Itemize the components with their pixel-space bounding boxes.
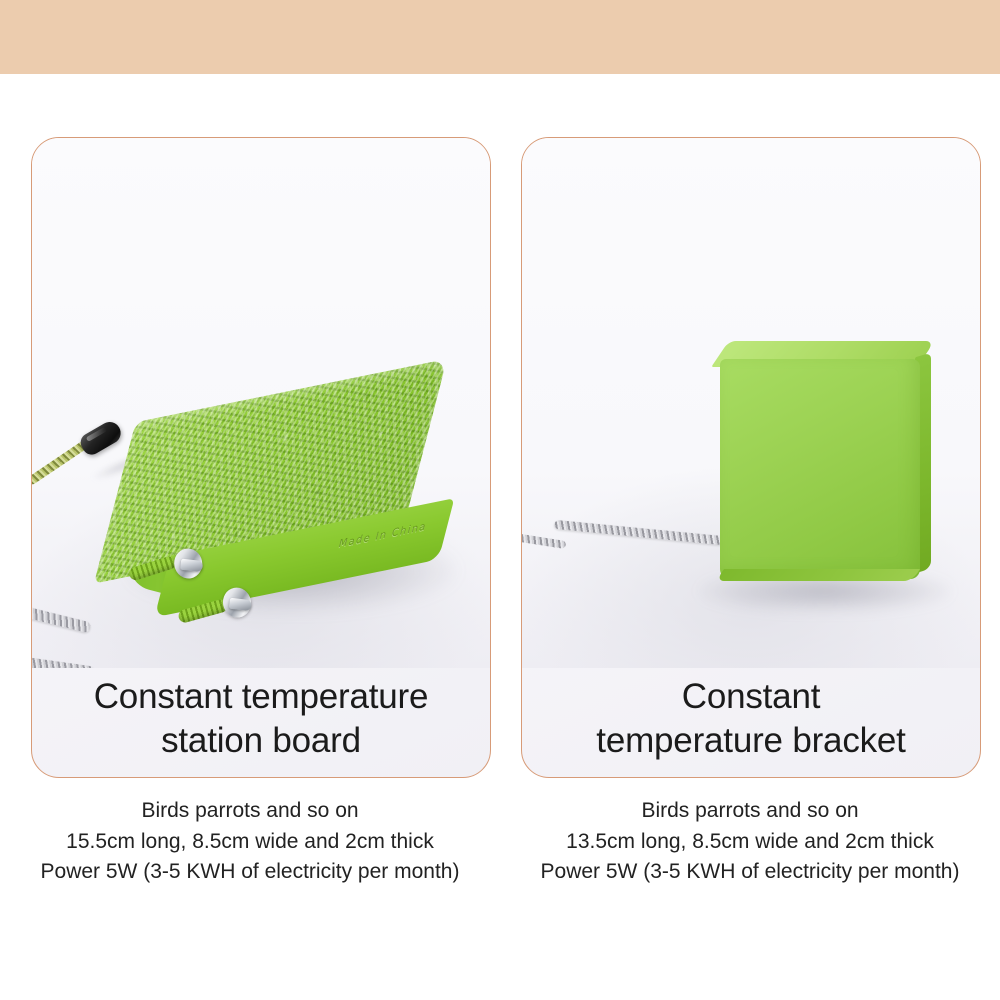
terminal-wing-icon (180, 559, 203, 572)
product-title-line-1: Constant temperature (46, 675, 476, 719)
bracket-illustration (522, 138, 980, 668)
product-title-station-board: Constant temperature station board (32, 675, 490, 763)
product-title-line-2: temperature bracket (536, 719, 966, 763)
braided-cable (554, 520, 724, 545)
product-card-bracket[interactable]: Constant temperature bracket (521, 137, 981, 778)
bracket-front-face (720, 359, 920, 579)
spec-line-usage: Birds parrots and so on (0, 796, 500, 827)
product-specs-bracket: Birds parrots and so on 13.5cm long, 8.5… (500, 796, 1000, 888)
product-comparison-page: Made In China (0, 74, 1000, 1000)
product-specs-station-board: Birds parrots and so on 15.5cm long, 8.5… (0, 796, 500, 888)
product-card-station-board[interactable]: Made In China (31, 137, 491, 778)
terminal-wing-icon (229, 598, 252, 611)
product-photo-bracket (522, 138, 980, 668)
station-board-illustration: Made In China (32, 138, 490, 668)
product-title-line-2: station board (46, 719, 476, 763)
made-in-china-embossed-text: Made In China (337, 521, 428, 551)
top-banner-band (0, 0, 1000, 74)
spec-line-size: 15.5cm long, 8.5cm wide and 2cm thick (0, 827, 500, 858)
wing-screw-terminal-2 (214, 580, 261, 627)
heating-bracket (712, 341, 934, 579)
spec-line-usage: Birds parrots and so on (500, 796, 1000, 827)
braided-cable-lower (32, 649, 95, 668)
bracket-bottom-edge (716, 569, 920, 581)
product-title-line-1: Constant (536, 675, 966, 719)
product-title-bracket: Constant temperature bracket (522, 675, 980, 763)
product-cards-row: Made In China (0, 74, 1000, 784)
wing-screw-terminal-1 (165, 541, 212, 588)
braided-cable-upper (32, 594, 92, 634)
product-photo-station-board: Made In China (32, 138, 490, 668)
spec-line-size: 13.5cm long, 8.5cm wide and 2cm thick (500, 827, 1000, 858)
braided-cable-tail (522, 533, 566, 549)
spec-line-power: Power 5W (3-5 KWH of electricity per mon… (0, 857, 500, 888)
spec-line-power: Power 5W (3-5 KWH of electricity per mon… (500, 857, 1000, 888)
